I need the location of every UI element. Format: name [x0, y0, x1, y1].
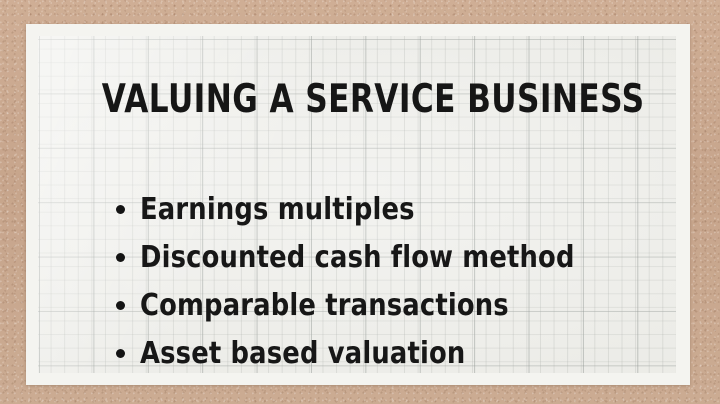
list-item: Asset based valuation	[116, 338, 636, 386]
bullet-dot-icon	[116, 301, 125, 310]
list-item-label: Earnings multiples	[140, 194, 415, 226]
bullet-dot-icon	[116, 349, 125, 358]
slide-title: VALUING A SERVICE BUSINESS	[102, 80, 612, 120]
list-item: Comparable transactions	[116, 290, 636, 338]
list-item-label: Discounted cash flow method	[140, 242, 575, 274]
slide-content: VALUING A SERVICE BUSINESS Earnings mult…	[38, 36, 676, 373]
grid-paper-surface: VALUING A SERVICE BUSINESS Earnings mult…	[38, 36, 676, 373]
list-item-label: Comparable transactions	[140, 290, 509, 322]
list-item: Discounted cash flow method	[116, 242, 636, 290]
slide-canvas: VALUING A SERVICE BUSINESS Earnings mult…	[0, 0, 720, 404]
bullet-dot-icon	[116, 253, 125, 262]
bullet-list: Earnings multiples Discounted cash flow …	[116, 194, 636, 386]
bullet-dot-icon	[116, 205, 125, 214]
list-item-label: Asset based valuation	[140, 338, 465, 370]
list-item: Earnings multiples	[116, 194, 636, 242]
paper-sheet: VALUING A SERVICE BUSINESS Earnings mult…	[26, 24, 690, 385]
